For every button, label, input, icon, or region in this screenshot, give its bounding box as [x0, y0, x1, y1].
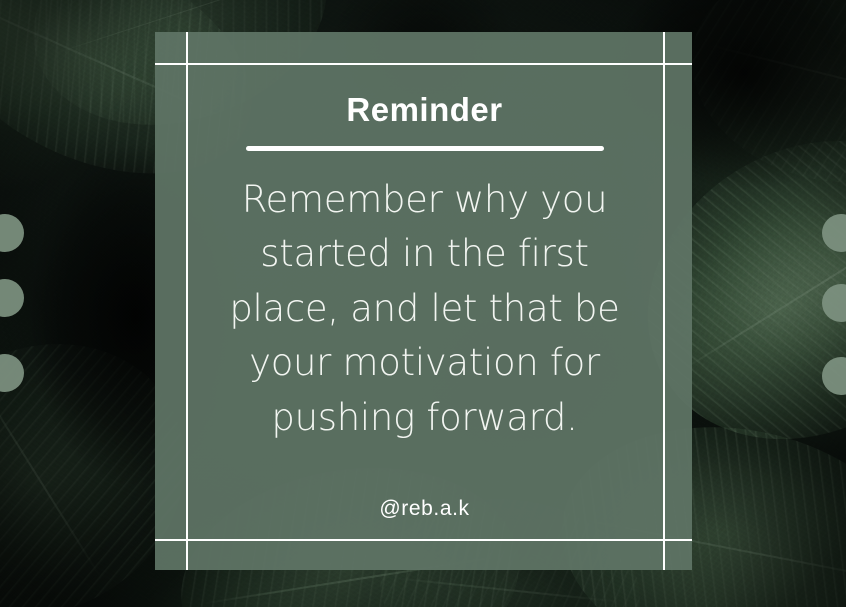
heading-divider: [246, 146, 604, 151]
quote-card-canvas: Reminder Remember why you started in the…: [0, 0, 846, 607]
frame-line-right: [663, 32, 665, 570]
card-content: Reminder Remember why you started in the…: [186, 63, 663, 539]
card-heading: Reminder: [346, 93, 502, 126]
frame-line-bottom: [155, 539, 692, 541]
author-handle: @reb.a.k: [186, 497, 663, 521]
quote-text: Remember why you started in the first pl…: [225, 173, 625, 445]
